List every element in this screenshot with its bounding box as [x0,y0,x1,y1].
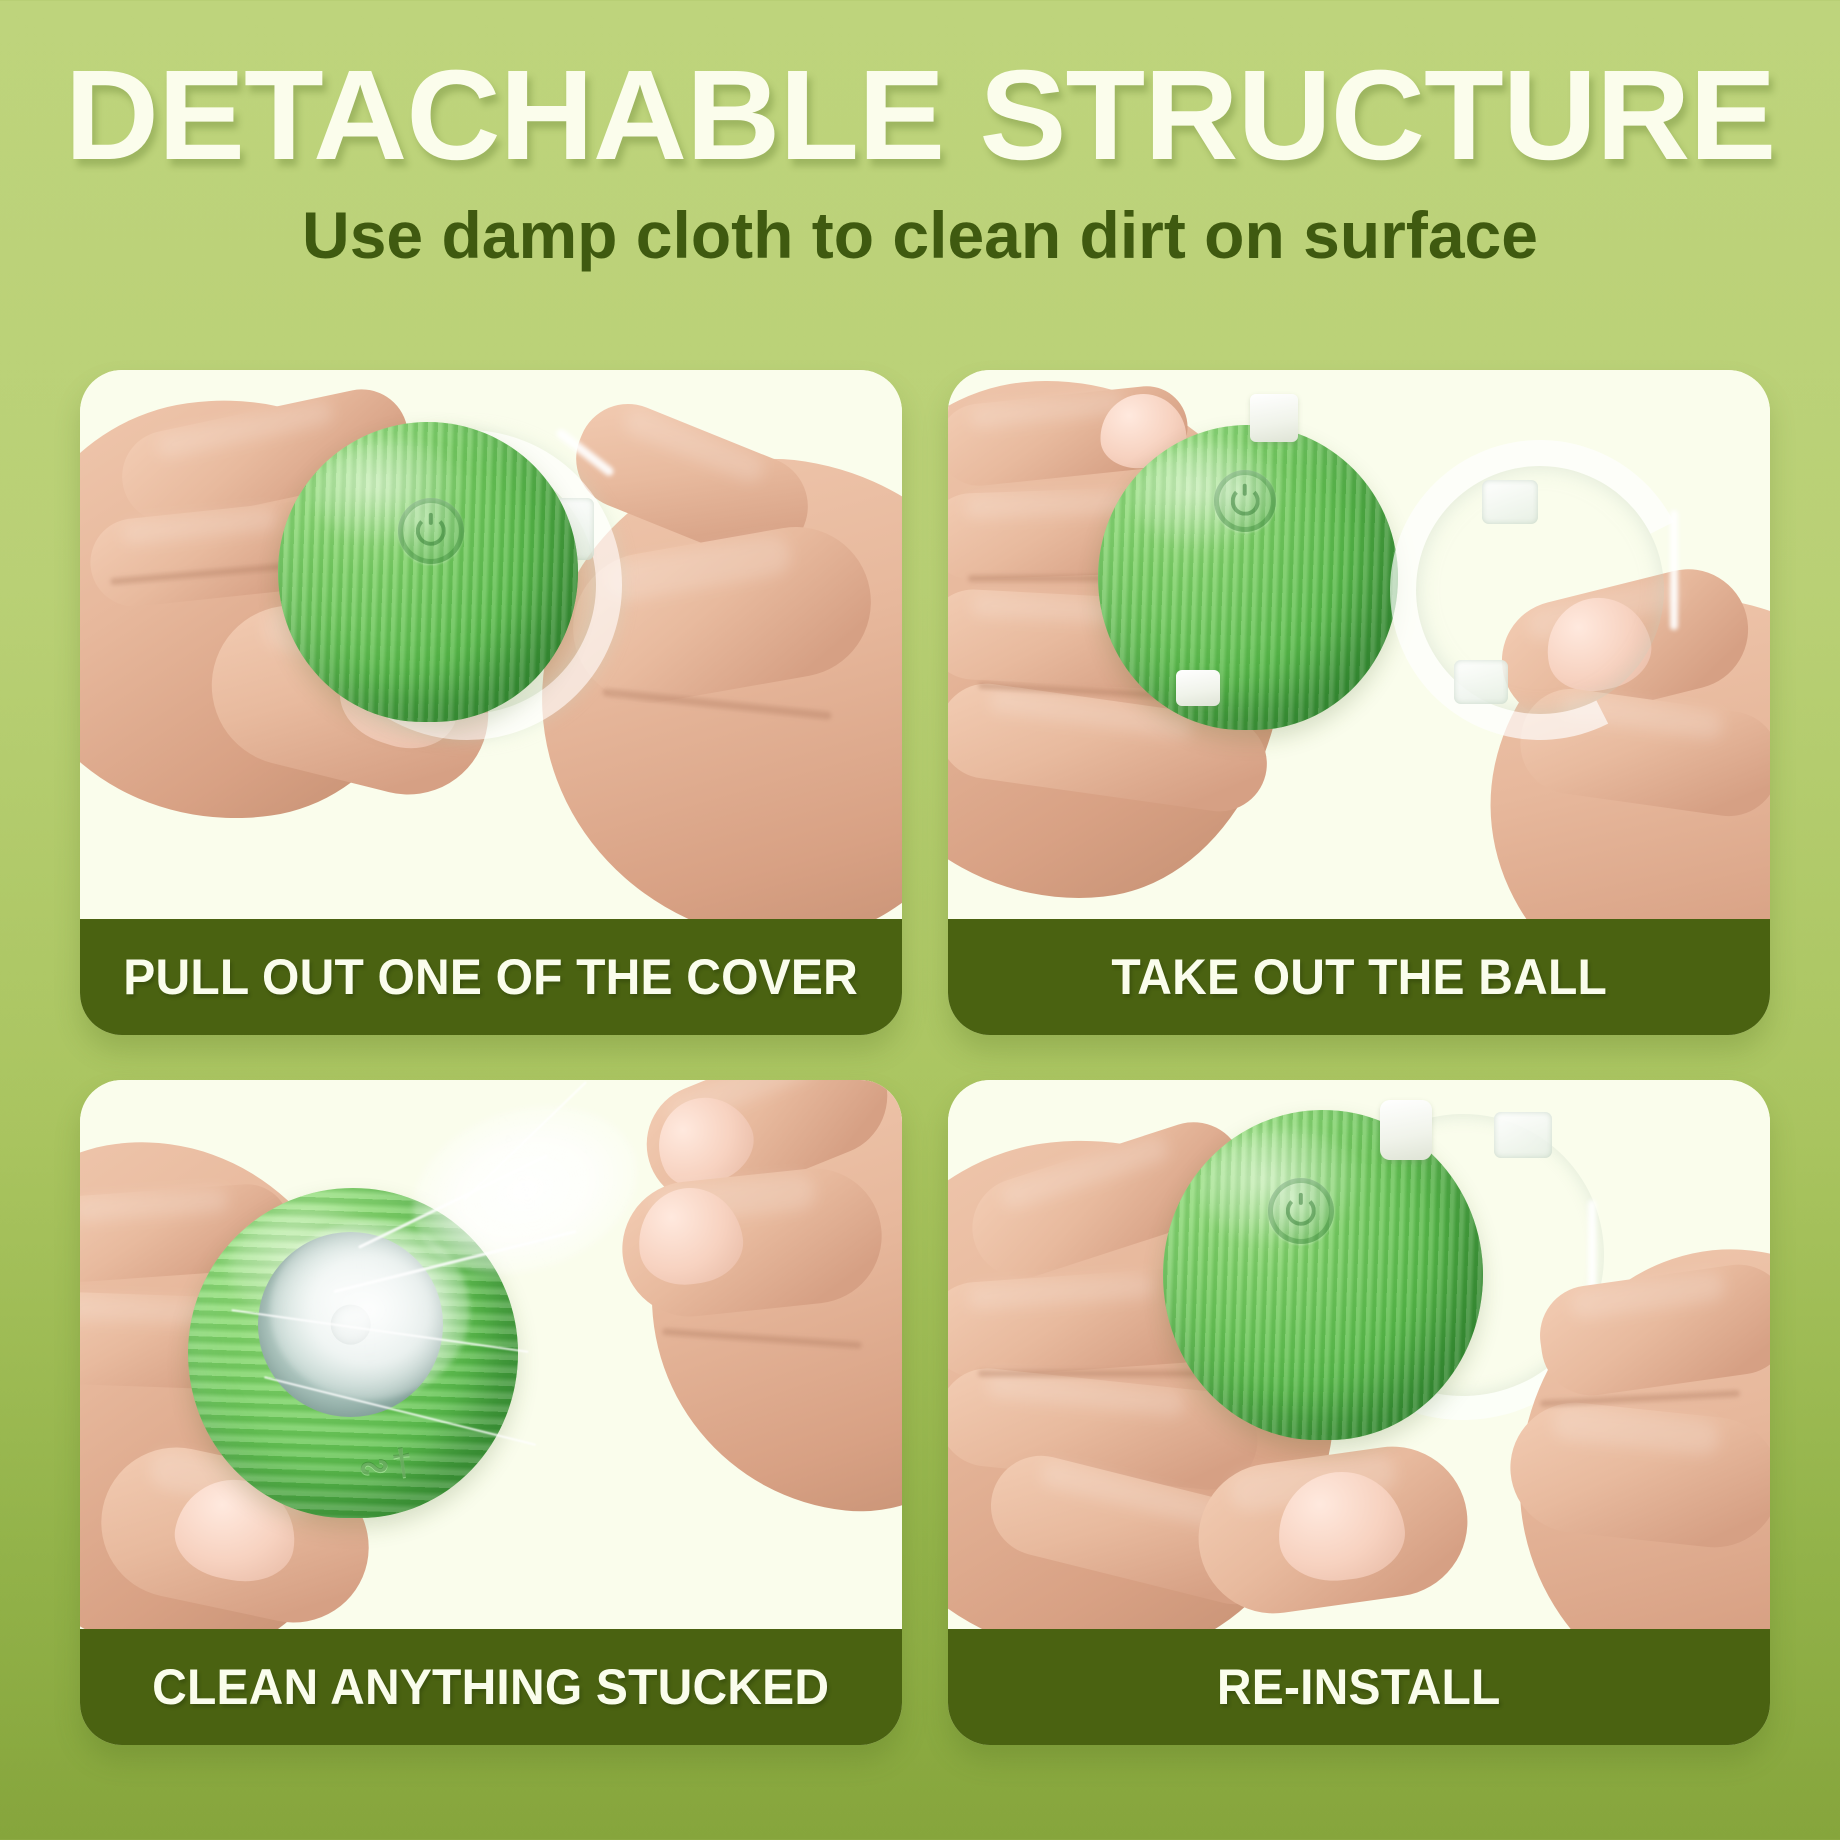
steps-grid: PULL OUT ONE OF THE COVER [80,370,1770,1745]
power-button-icon [1268,1178,1334,1244]
step-caption-bar-3: CLEAN ANYTHING STUCKED [80,1629,902,1745]
step-caption-bar-4: RE-INSTALL [948,1629,1770,1745]
step-card-2[interactable]: TAKE OUT THE BALL [948,370,1770,1035]
step-photo-4 [948,1080,1770,1629]
step-card-4[interactable]: RE-INSTALL [948,1080,1770,1745]
step-caption-4: RE-INSTALL [1217,1658,1501,1716]
white-tab-bottom [1176,670,1220,706]
scene-clean-stuck: ∾† [80,1080,902,1629]
step-caption-bar-2: TAKE OUT THE BALL [948,919,1770,1035]
cover-nub [1494,1112,1552,1158]
green-ball [278,422,578,722]
page-subtitle: Use damp cloth to clean dirt on surface [0,202,1840,268]
white-tab-top [1250,394,1298,442]
step-photo-3: ∾† [80,1080,902,1629]
white-tab-top [1380,1100,1432,1160]
step-caption-2: TAKE OUT THE BALL [1111,948,1607,1006]
scene-pull-out-cover [80,370,902,919]
scene-re-install [948,1080,1770,1629]
brand-logo-emboss: ∾† [355,1438,418,1490]
page-title: DETACHABLE STRUCTURE [0,52,1840,180]
left-hand-crease [978,1370,1218,1377]
cover-nub-bottom [1454,660,1508,704]
step-photo-2 [948,370,1770,919]
green-ball [1163,1110,1483,1440]
step-card-1[interactable]: PULL OUT ONE OF THE COVER [80,370,902,1035]
step-caption-bar-1: PULL OUT ONE OF THE COVER [80,919,902,1035]
step-card-3[interactable]: ∾† CLEAN ANYTHING STUCKED [80,1080,902,1745]
cover-nub-top [1482,480,1538,524]
header: DETACHABLE STRUCTURE Use damp cloth to c… [0,0,1840,268]
step-caption-3: CLEAN ANYTHING STUCKED [152,1658,829,1716]
power-glyph [1231,487,1260,516]
step-caption-1: PULL OUT ONE OF THE COVER [124,948,859,1006]
power-glyph [1286,1196,1316,1226]
step-photo-1 [80,370,902,919]
scene-take-out-ball [948,370,1770,919]
power-glyph [416,516,446,546]
cover-glint [1670,510,1678,630]
power-button-icon [1214,470,1276,532]
power-button-icon [398,498,464,564]
